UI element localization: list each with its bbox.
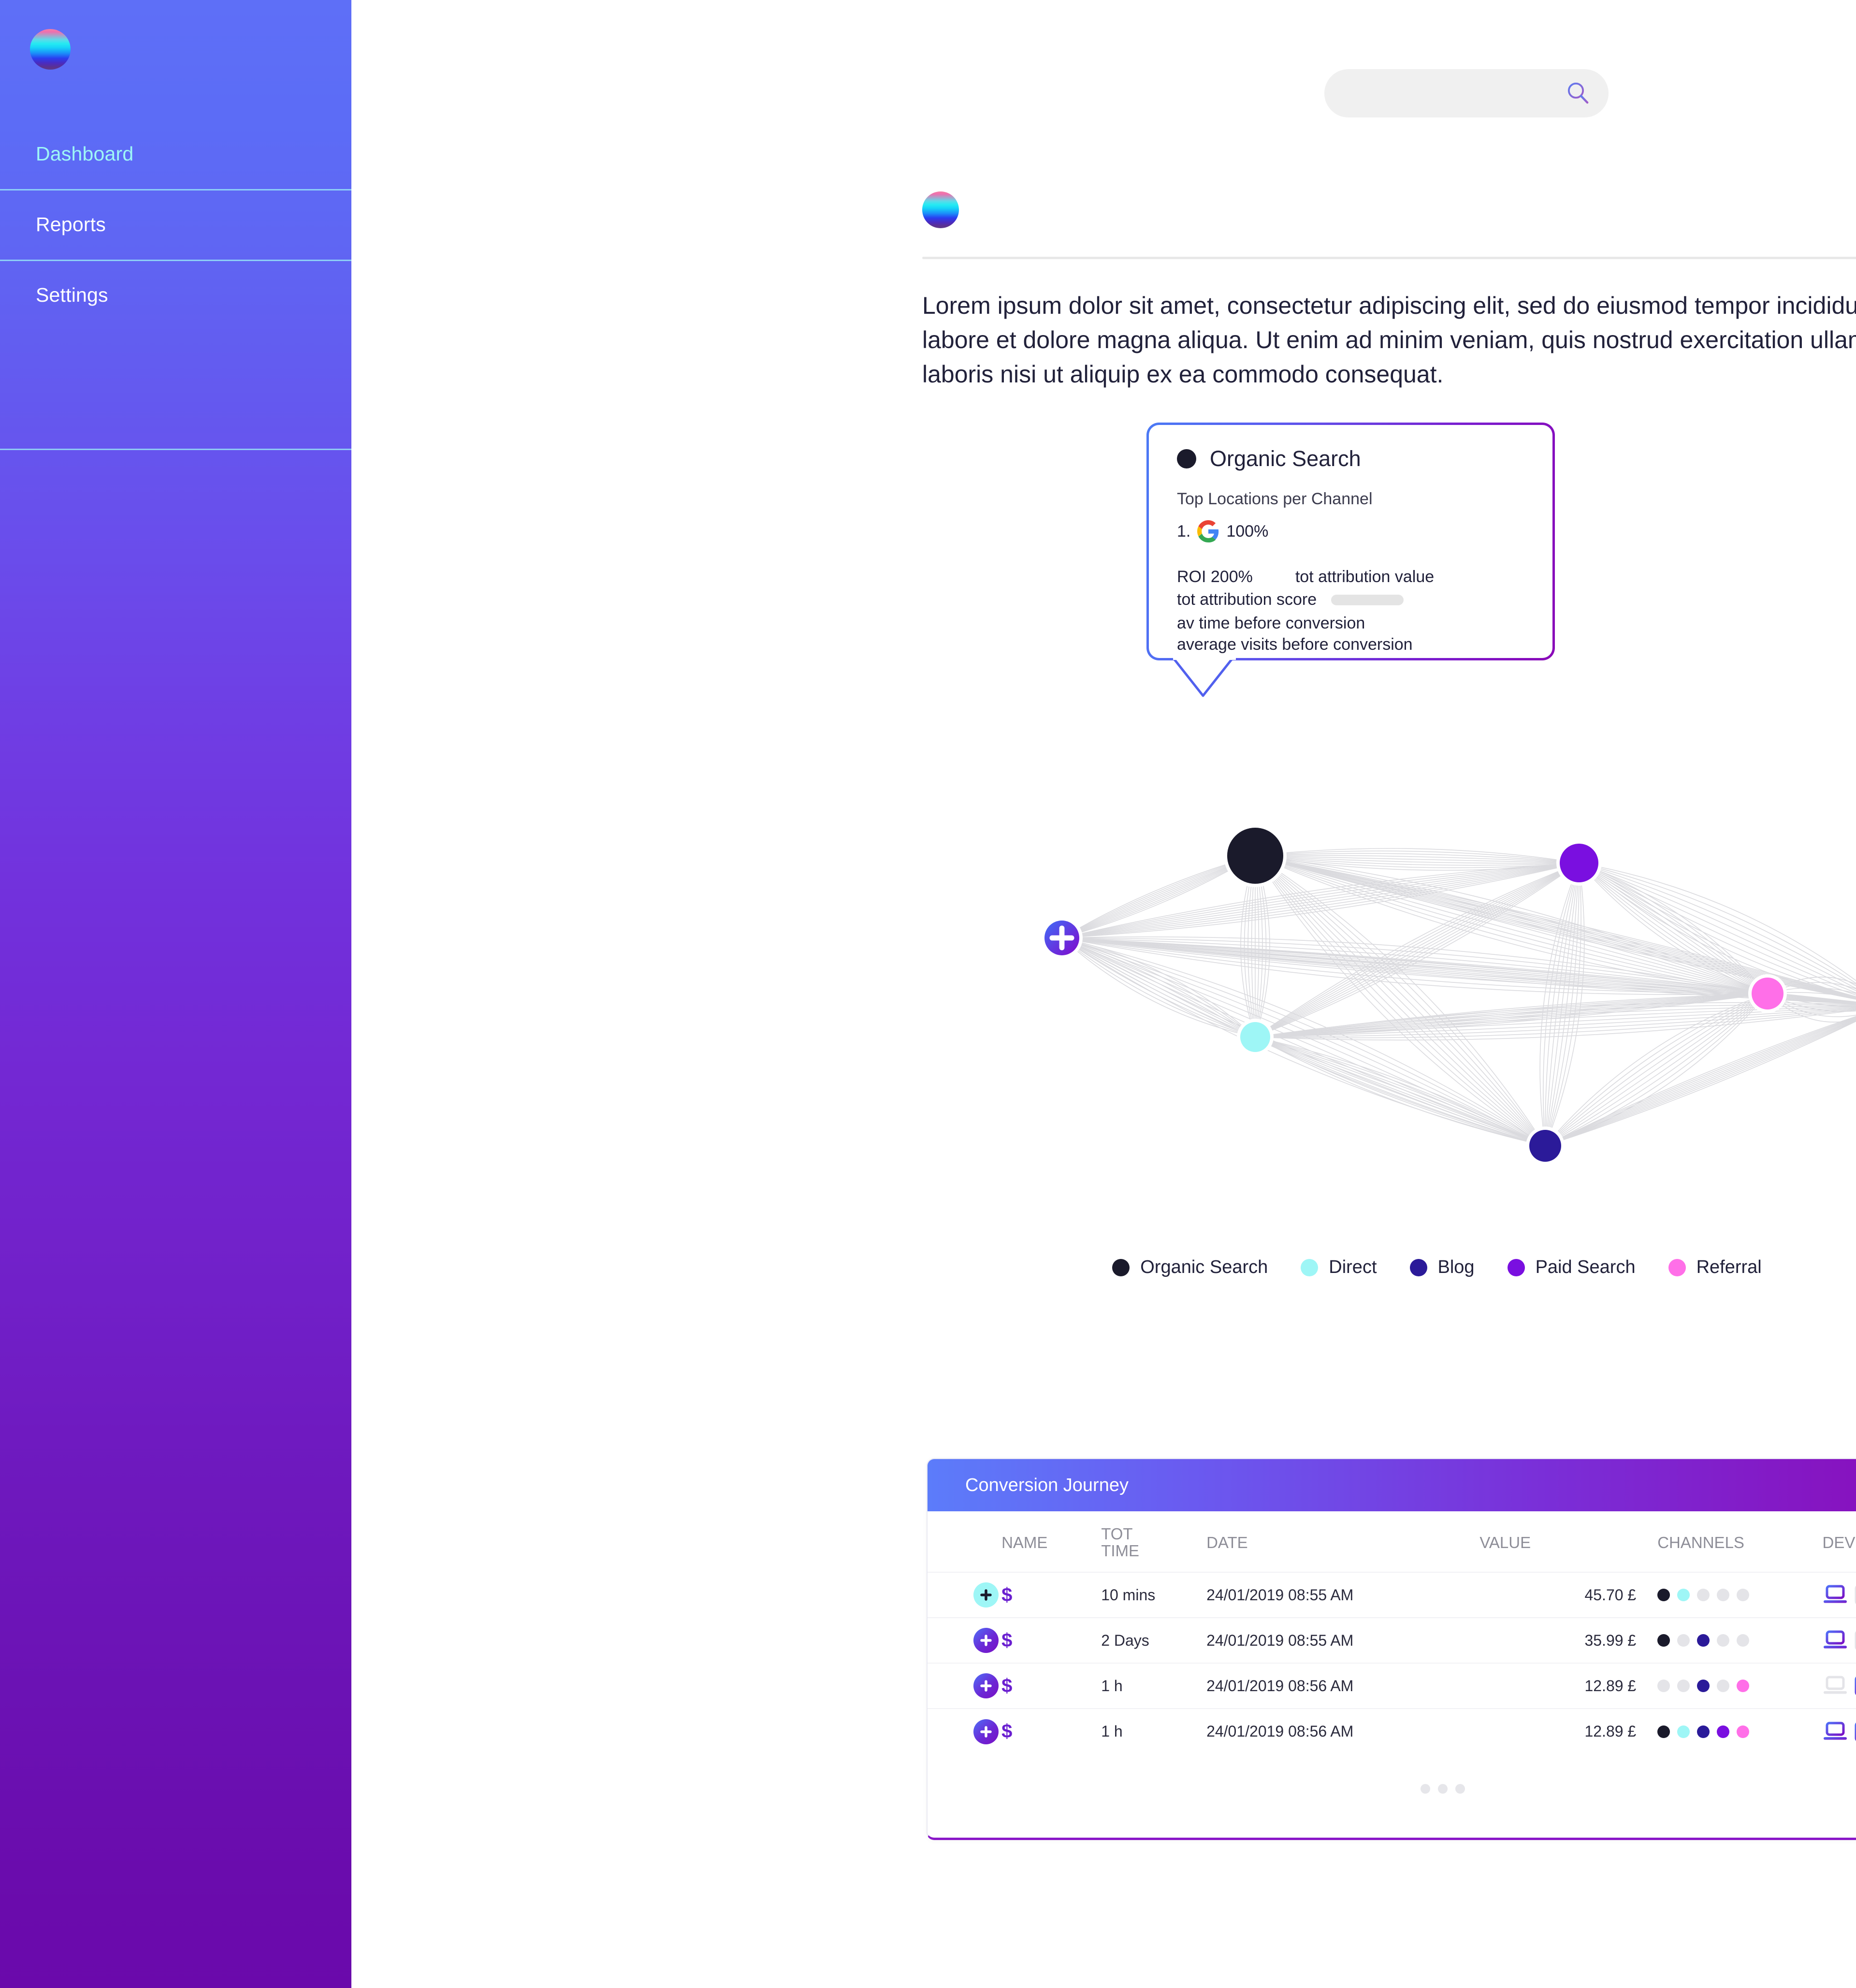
row-entry-cell [928,1618,1001,1663]
tooltip-pointer-icon [1173,658,1236,699]
legend-item-blog[interactable]: Blog [1410,1257,1475,1278]
sidebar: Dashboard Reports Settings [0,0,351,1988]
tooltip-top-location: 1. 100% [1177,520,1527,542]
av-time-label: av time before conversion [1177,613,1527,634]
channel-dot-icon [1657,1589,1670,1601]
plus-icon [978,1724,994,1739]
channel-dot-icon [1737,1680,1749,1692]
row-tot-time: 10 mins [1101,1572,1206,1618]
laptop-icon[interactable] [1823,1721,1848,1742]
device-icons [1823,1675,1856,1696]
laptop-icon[interactable] [1823,1630,1848,1651]
tooltip-card: Organic Search Top Locations per Channel… [1146,423,1555,660]
plus-badge-gradient-icon[interactable] [973,1673,999,1698]
laptop-icon[interactable] [1823,1675,1848,1696]
sidebar-divider [0,449,351,450]
channel-dot-icon [1737,1589,1749,1601]
col-name[interactable]: NAME [1001,1511,1101,1572]
laptop-icon[interactable] [1823,1584,1848,1606]
location-percentage: 100% [1226,522,1268,541]
tooltip-channel-name: Organic Search [1210,446,1361,471]
col-tot-time-line1: TOT [1101,1526,1206,1543]
row-channels [1636,1572,1807,1618]
card-title: Conversion Journey [965,1475,1129,1496]
channel-dot-icon [1677,1589,1690,1601]
col-tot-time[interactable]: TOT TIME [1101,1511,1206,1572]
sidebar-item-label: Settings [36,284,108,307]
network-node-blog[interactable] [1526,1126,1565,1165]
row-date: 24/01/2019 08:56 AM [1206,1709,1479,1754]
pagination-dot[interactable] [1455,1784,1465,1794]
table-body: $ 10 mins 24/01/2019 08:55 AM 45.70 £ [928,1572,1856,1754]
col-value[interactable]: VALUE [1479,1511,1636,1572]
mobile-icon[interactable] [1855,1675,1856,1696]
pagination-dots[interactable] [1421,1784,1465,1794]
mobile-icon[interactable] [1855,1721,1856,1742]
network-svg: $ [883,696,1856,1180]
channel-dot-icon [1677,1680,1690,1692]
channel-dot-icon [1737,1725,1749,1738]
network-node-direct[interactable] [1237,1019,1274,1055]
plus-badge-gradient-icon[interactable] [973,1719,999,1744]
col-date[interactable]: DATE [1206,1511,1479,1572]
col-channels[interactable]: CHANNELS [1636,1511,1807,1572]
channel-dot-icon [1677,1725,1690,1738]
pagination-dot[interactable] [1421,1784,1430,1794]
legend-label: Referral [1696,1257,1762,1278]
conversion-journey-card: Conversion Journey NAME TOT TIME DATE VA… [927,1458,1856,1840]
network-node-referral[interactable] [1748,974,1787,1013]
row-entry-cell [928,1663,1001,1709]
row-entry-cell [928,1709,1001,1754]
channel-dot-icon [1737,1634,1749,1647]
row-tot-time: 1 h [1101,1663,1206,1709]
search-bar[interactable] [1324,69,1609,117]
attribution-score-row: tot attribution score [1177,590,1527,609]
channel-dot-icon [1657,1680,1670,1692]
row-tot-time: 1 h [1101,1709,1206,1754]
row-value: 12.89 £ [1479,1709,1636,1754]
plus-badge-cyan-icon[interactable] [973,1582,999,1608]
dollar-icon: $ [1001,1584,1012,1606]
row-value: 12.89 £ [1479,1663,1636,1709]
row-date: 24/01/2019 08:55 AM [1206,1618,1479,1663]
lead-paragraph: Lorem ipsum dolor sit amet, consectetur … [922,289,1856,392]
legend-item-paid-search[interactable]: Paid Search [1508,1257,1636,1278]
plus-badge-gradient-icon[interactable] [973,1628,999,1653]
row-channels [1636,1663,1807,1709]
legend-color-dot-icon [1508,1259,1525,1276]
channel-dot-icon [1697,1680,1710,1692]
attribution-score-label: tot attribution score [1177,590,1317,609]
sidebar-item-dashboard[interactable]: Dashboard [0,118,351,189]
row-devices [1807,1618,1856,1663]
dollar-icon: $ [1001,1675,1012,1696]
legend-color-dot-icon [1410,1259,1427,1276]
row-name-cell: $ [1001,1663,1101,1709]
legend-color-dot-icon [1301,1259,1318,1276]
channel-dot-icon [1717,1725,1729,1738]
plus-icon [978,1587,994,1603]
device-icons [1823,1630,1856,1651]
row-name-cell: $ [1001,1618,1101,1663]
sidebar-item-reports[interactable]: Reports [0,189,351,260]
channel-color-dot-icon [1177,449,1196,468]
main-content: Lorem ipsum dolor sit amet, consectetur … [351,0,1856,1988]
row-date: 24/01/2019 08:56 AM [1206,1663,1479,1709]
legend-item-organic-search[interactable]: Organic Search [1112,1257,1268,1278]
sidebar-item-settings[interactable]: Settings [0,260,351,330]
sidebar-item-label: Reports [36,213,106,236]
attribution-value-label: tot attribution value [1295,568,1434,586]
dollar-icon: $ [1001,1630,1012,1651]
attribution-score-bar [1331,595,1404,605]
table-row[interactable]: $ 10 mins 24/01/2019 08:55 AM 45.70 £ [928,1572,1856,1618]
col-tot-time-line2: TIME [1101,1543,1206,1560]
legend-item-direct[interactable]: Direct [1301,1257,1377,1278]
row-value: 45.70 £ [1479,1572,1636,1618]
channel-dots [1657,1634,1807,1647]
row-entry-cell [928,1572,1001,1618]
table-row[interactable]: $ 1 h 24/01/2019 08:56 AM 12.89 £ [928,1663,1856,1709]
col-entry [928,1511,1001,1572]
channel-dot-icon [1697,1589,1710,1601]
device-icons [1823,1584,1856,1606]
location-rank: 1. [1177,522,1190,541]
col-devices[interactable]: DEVICES [1807,1511,1856,1572]
channel-dot-icon [1657,1725,1670,1738]
search-icon[interactable] [1565,80,1591,106]
brand-orb-icon[interactable] [30,29,71,70]
dollar-icon: $ [1001,1721,1012,1742]
channel-dots [1657,1680,1807,1692]
row-channels [1636,1709,1807,1754]
google-logo-icon [1197,520,1219,542]
channel-dot-icon [1677,1634,1690,1647]
row-channels [1636,1618,1807,1663]
legend-label: Blog [1438,1257,1475,1278]
legend-color-dot-icon [1668,1259,1686,1276]
channel-dot-icon [1697,1725,1710,1738]
channel-dots [1657,1725,1807,1738]
network-edges [1062,848,1856,1146]
table-row[interactable]: $ 1 h 24/01/2019 08:56 AM 12.89 £ [928,1709,1856,1754]
tooltip-header: Organic Search [1177,446,1527,471]
plus-icon [978,1678,994,1694]
device-icons [1823,1721,1856,1742]
row-tot-time: 2 Days [1101,1618,1206,1663]
card-title-bar: Conversion Journey [928,1459,1856,1511]
sidebar-nav: Dashboard Reports Settings [0,118,351,330]
roi-value: ROI 200% [1177,568,1253,586]
network-node-paid[interactable] [1556,840,1602,886]
channel-dot-icon [1697,1634,1710,1647]
network-node-entry[interactable] [1041,917,1083,959]
row-devices [1807,1572,1856,1618]
legend-label: Paid Search [1536,1257,1636,1278]
channel-dot-icon [1717,1634,1729,1647]
app-root: Dashboard Reports Settings [0,0,1856,1988]
row-name-cell: $ [1001,1572,1101,1618]
channel-dot-icon [1657,1634,1670,1647]
conversion-journey-table: NAME TOT TIME DATE VALUE CHANNELS DEVICE… [928,1511,1856,1754]
tooltip-subtitle: Top Locations per Channel [1177,490,1527,509]
channel-dot-icon [1717,1589,1729,1601]
legend-color-dot-icon [1112,1259,1130,1276]
legend-label: Organic Search [1140,1257,1268,1278]
table-row[interactable]: $ 2 Days 24/01/2019 08:55 AM 35.99 £ [928,1618,1856,1663]
network-node-organic[interactable] [1224,824,1287,887]
channel-tooltip: Organic Search Top Locations per Channel… [1146,423,1555,660]
table-header-row: NAME TOT TIME DATE VALUE CHANNELS DEVICE… [928,1511,1856,1572]
pagination-dot[interactable] [1438,1784,1448,1794]
row-name-cell: $ [1001,1709,1101,1754]
content-brand-orb-icon [922,191,959,228]
avg-visits-label: average visits before conversion [1177,634,1527,656]
row-devices [1807,1709,1856,1754]
row-date: 24/01/2019 08:55 AM [1206,1572,1479,1618]
mobile-icon[interactable] [1855,1584,1856,1606]
channel-dot-icon [1717,1680,1729,1692]
row-value: 35.99 £ [1479,1618,1636,1663]
header-divider [922,257,1856,259]
channel-dots [1657,1589,1807,1601]
table-head: NAME TOT TIME DATE VALUE CHANNELS DEVICE… [928,1511,1856,1572]
mobile-icon[interactable] [1855,1630,1856,1651]
attribution-network-graph[interactable]: $ [883,696,1856,1180]
legend-label: Direct [1329,1257,1377,1278]
plus-icon [978,1633,994,1648]
legend-item-referral[interactable]: Referral [1668,1257,1762,1278]
sidebar-item-label: Dashboard [36,143,133,165]
tooltip-metrics-row: ROI 200% tot attribution value [1177,568,1527,586]
row-devices [1807,1663,1856,1709]
channel-legend: Organic Search Direct Blog Paid Search R… [922,1257,1856,1278]
